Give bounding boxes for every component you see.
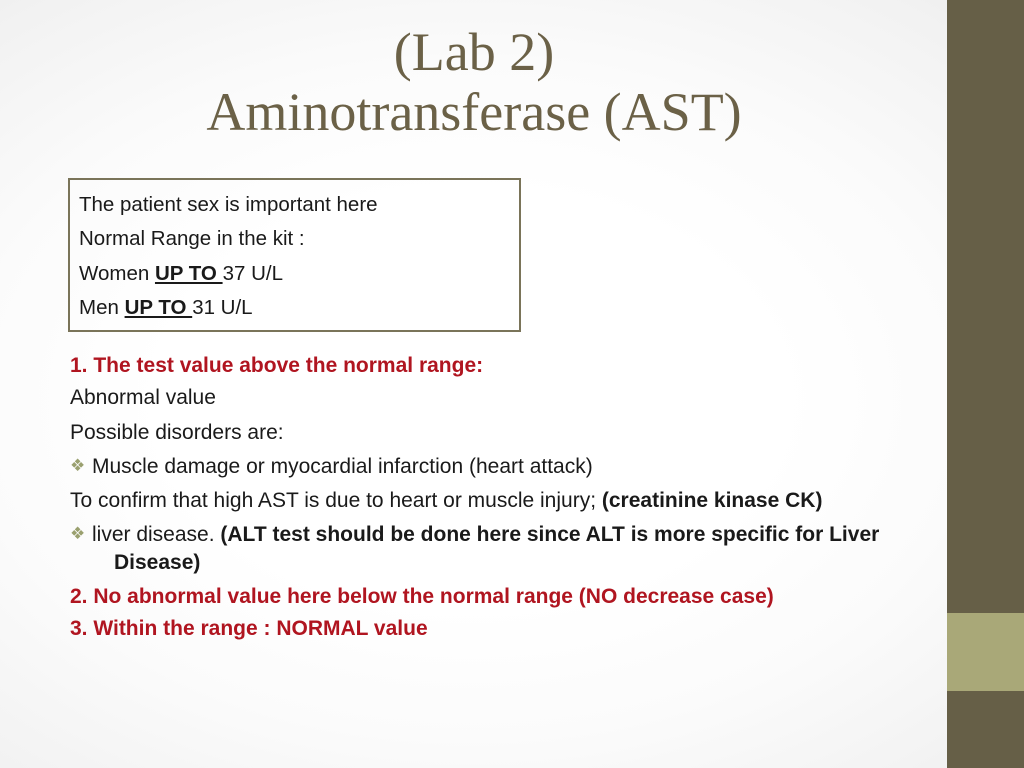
paragraph-confirm-ast-bold: (creatinine kinase CK)	[602, 489, 823, 512]
page-title-line-1: (Lab 2)	[40, 22, 908, 82]
page-title: (Lab 2) Aminotransferase (AST)	[40, 22, 908, 143]
paragraph-confirm-ast: To confirm that high AST is due to heart…	[70, 487, 890, 514]
sidebar-bar-top	[947, 0, 1024, 613]
diamond-bullet-icon: ❖	[70, 454, 85, 478]
note-men-label: Men	[79, 296, 125, 319]
note-line-patient-sex: The patient sex is important here	[79, 188, 519, 222]
heading-within-range: 3. Within the range : NORMAL value	[70, 615, 890, 642]
note-women-label: Women	[79, 262, 155, 285]
note-women-emphasis: UP TO	[155, 262, 223, 285]
paragraph-possible-disorders: Possible disorders are:	[70, 419, 890, 446]
list-item-muscle-damage: ❖ Muscle damage or myocardial infarction…	[70, 453, 890, 480]
note-line-normal-range: Normal Range in the kit :	[79, 222, 519, 256]
note-line-men: Men UP TO 31 U/L	[79, 291, 519, 325]
paragraph-abnormal-value: Abnormal value	[70, 384, 890, 411]
heading-above-range: 1. The test value above the normal range…	[70, 352, 890, 379]
page-title-line-2: Aminotransferase (AST)	[40, 82, 908, 142]
slide-canvas: (Lab 2) Aminotransferase (AST) The patie…	[0, 0, 1024, 768]
note-men-emphasis: UP TO	[125, 296, 193, 319]
right-decoration-bars	[947, 0, 1024, 768]
note-line-women: Women UP TO 37 U/L	[79, 257, 519, 291]
list-item-liver-disease-plain: liver disease.	[92, 523, 220, 546]
list-item-liver-disease-text: liver disease. (ALT test should be done …	[92, 521, 890, 576]
sidebar-bar-bottom	[947, 691, 1024, 768]
content-body: 1. The test value above the normal range…	[70, 352, 890, 650]
sidebar-bar-accent	[947, 613, 1024, 691]
heading-below-range: 2. No abnormal value here below the norm…	[70, 583, 890, 610]
list-item-muscle-damage-text: Muscle damage or myocardial infarction (…	[92, 453, 890, 480]
paragraph-confirm-ast-plain: To confirm that high AST is due to heart…	[70, 489, 602, 512]
note-men-value: 31 U/L	[192, 296, 252, 319]
list-item-liver-disease-bold: (ALT test should be done here since ALT …	[114, 523, 879, 573]
list-item-liver-disease: ❖ liver disease. (ALT test should be don…	[70, 521, 890, 576]
diamond-bullet-icon: ❖	[70, 522, 85, 546]
normal-range-box: The patient sex is important here Normal…	[68, 178, 521, 332]
note-women-value: 37 U/L	[223, 262, 283, 285]
normal-range-box-content: The patient sex is important here Normal…	[70, 180, 519, 326]
